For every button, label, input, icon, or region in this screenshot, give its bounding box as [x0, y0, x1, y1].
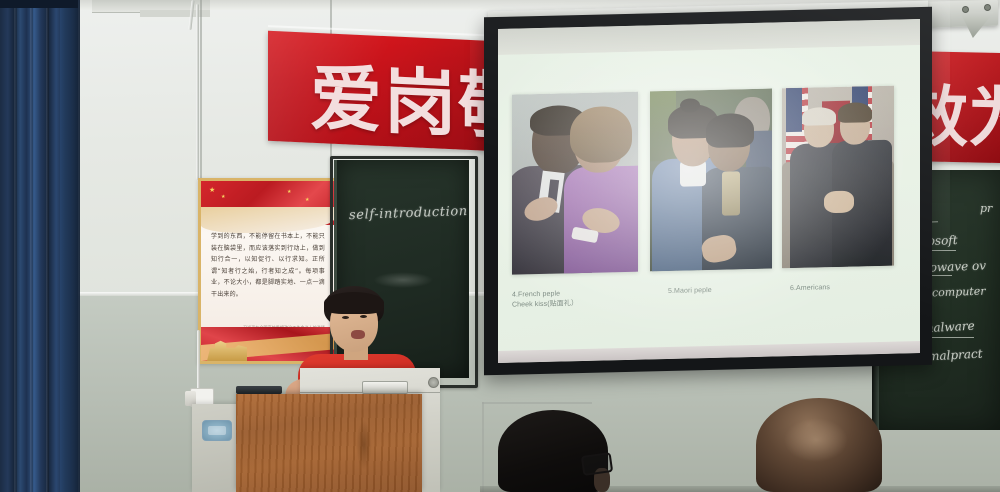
presentation-slide: 4.French peple Cheek kiss(贴面礼） 5.Maori p… — [498, 45, 920, 351]
cabinet-top-device — [236, 386, 282, 394]
chalk-text-malpractice: malpract — [928, 347, 983, 364]
wood-grain-texture — [236, 394, 422, 492]
slide-caption-americans: 6.Americans — [790, 283, 830, 294]
cabinet-lock-icon[interactable] — [428, 377, 439, 388]
curtain-rail — [0, 0, 78, 8]
curtain-fold — [46, 0, 49, 492]
photo-figure-a-hair — [802, 107, 836, 126]
projector-screen-surface: 4.French peple Cheek kiss(贴面礼） 5.Maori p… — [498, 19, 920, 363]
slide-caption-maori: 5.Maori peple — [668, 286, 712, 297]
audience-head-left — [498, 420, 608, 492]
curtain-fold — [30, 0, 33, 492]
banner-left-text: 爱岗敬 — [310, 39, 498, 152]
wooden-lectern — [236, 394, 422, 492]
wall-cable — [196, 4, 199, 180]
back-wall-panel-edge — [482, 402, 484, 492]
photo-figure-b-necklace — [722, 171, 740, 215]
chalk-text-pr: pr — [980, 202, 992, 215]
mount-screw — [984, 4, 991, 11]
poster-wave-decor — [201, 207, 335, 233]
star-icon: ★ — [287, 189, 291, 196]
star-icon: ★ — [305, 197, 309, 204]
caption-line-1: 5.Maori peple — [668, 286, 712, 297]
slide-photo-maori-hongi — [650, 89, 772, 272]
presenter-mouth — [351, 330, 365, 339]
cabinet-badge — [202, 420, 232, 441]
mount-screw — [962, 6, 969, 13]
hair-thinning-area — [784, 418, 848, 462]
power-cord — [197, 330, 200, 390]
photo-handshake — [824, 191, 854, 214]
photo-figure-b-hair — [838, 102, 872, 123]
curtain-fold — [14, 0, 17, 492]
chalk-text-self-introduction: self-introduction — [349, 204, 468, 223]
back-wall-panel-edge — [482, 402, 592, 404]
banner-left: 爱岗敬 — [268, 31, 498, 151]
slide-caption-french: 4.French peple Cheek kiss(贴面礼） — [512, 289, 578, 311]
star-icon: ★ — [221, 194, 225, 201]
presenter-eye-left — [342, 316, 349, 319]
audience-head-right — [756, 408, 882, 492]
flag-canton — [786, 88, 802, 132]
curtain-edge — [60, 0, 80, 492]
photo-figure-woman-hair — [570, 106, 632, 163]
presenter-eye-right — [360, 315, 367, 318]
caption-line-1: 6.Americans — [790, 283, 830, 294]
slide-photo-french-cheek-kiss — [512, 92, 638, 275]
photo-figure-b-hair — [706, 113, 754, 148]
presenter-fringe — [324, 292, 384, 314]
classroom-photo-scene: 爱岗敬 效为先 ★ ★ ★ ★ 学到的东西，不能停留在书本上，不能只装在脑袋里，… — [0, 0, 1000, 492]
glasses-icon — [581, 452, 613, 476]
caption-line-2: Cheek kiss(贴面礼） — [512, 299, 578, 311]
cabinet-handle[interactable] — [362, 381, 408, 394]
head-shape — [498, 410, 608, 492]
wood-knot — [356, 420, 372, 470]
star-icon: ★ — [209, 187, 215, 194]
slide-photo-americans-handshake — [782, 86, 894, 269]
